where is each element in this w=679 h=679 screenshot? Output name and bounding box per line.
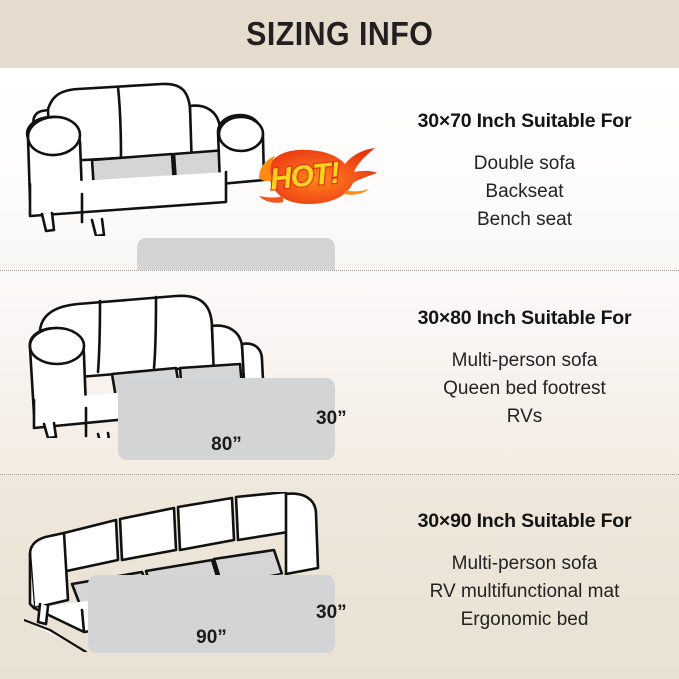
mat-width-label: 80” (118, 434, 335, 456)
header-banner: SIZING INFO (0, 0, 679, 68)
section-divider (0, 474, 679, 475)
illustration-four-seat-sofa: 90” 30” (0, 474, 370, 679)
hot-badge-label: HOT! (268, 156, 341, 197)
section-30x90: 90” 30” 30×90 Inch Suitable For Multi-pe… (0, 474, 679, 679)
illustration-two-seat-sofa: 70” 30” H (0, 68, 370, 270)
use-case: Multi-person sofa (370, 550, 679, 578)
use-case: RVs (370, 403, 679, 431)
mat-height-label: 30” (316, 602, 347, 624)
mat-width-label: 90” (88, 627, 335, 649)
mat-rectangle-90: 90” (88, 575, 335, 653)
sofa-drawing-1 (22, 76, 274, 236)
page-title: SIZING INFO (246, 15, 433, 53)
section-divider (0, 270, 679, 271)
text-block-30x90: 30×90 Inch Suitable For Multi-person sof… (370, 510, 679, 634)
section-30x80: 80” 30” 30×80 Inch Suitable For Multi-pe… (0, 270, 679, 474)
mat-rectangle-80: 80” (118, 378, 335, 460)
mat-rectangle-70: 70” (137, 238, 335, 270)
use-case: Multi-person sofa (370, 347, 679, 375)
illustration-three-seat-sofa: 80” 30” (0, 270, 370, 474)
section-30x70: 70” 30” H (0, 68, 679, 270)
size-heading: 30×90 Inch Suitable For (370, 510, 679, 533)
sizing-info-infographic: SIZING INFO (0, 0, 679, 679)
use-case: Queen bed footrest (370, 375, 679, 403)
size-heading: 30×80 Inch Suitable For (370, 307, 679, 330)
hot-badge: HOT! HOT! (253, 146, 377, 208)
text-block-30x80: 30×80 Inch Suitable For Multi-person sof… (370, 307, 679, 431)
size-heading: 30×70 Inch Suitable For (370, 110, 679, 133)
use-case: Bench seat (370, 206, 679, 234)
use-case: Ergonomic bed (370, 606, 679, 634)
use-case: Double sofa (370, 150, 679, 178)
use-case: RV multifunctional mat (370, 578, 679, 606)
text-block-30x70: 30×70 Inch Suitable For Double sofa Back… (370, 110, 679, 234)
use-case: Backseat (370, 178, 679, 206)
mat-height-label: 30” (316, 408, 347, 430)
